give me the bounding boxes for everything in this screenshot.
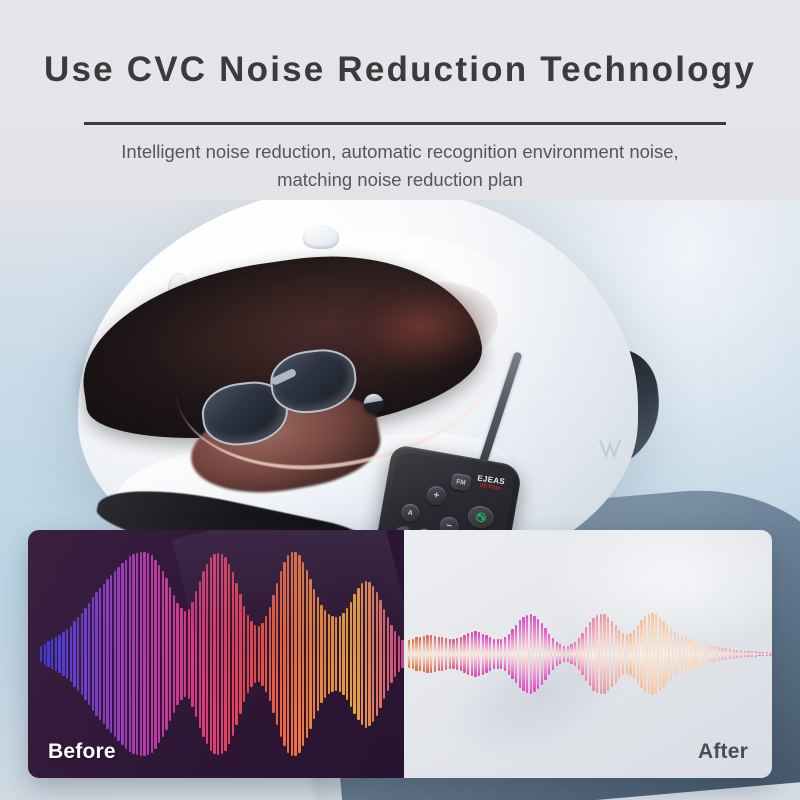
waveform-bar <box>718 647 720 661</box>
device-brand-logo: EJEAS V6 Plus <box>469 473 513 495</box>
waveform-bar <box>114 571 116 737</box>
waveform-bar <box>607 617 609 691</box>
waveform-bar <box>154 560 156 749</box>
waveform-bar <box>73 621 75 686</box>
waveform-bar <box>530 614 532 693</box>
waveform-bar <box>548 634 550 675</box>
waveform-bar <box>662 621 664 688</box>
waveform-bar <box>751 651 753 656</box>
after-panel: After <box>404 530 772 778</box>
waveform-bar <box>747 651 749 657</box>
waveform-bar <box>441 637 443 670</box>
page-subtitle: Intelligent noise reduction, automatic r… <box>100 138 700 194</box>
waveform-bar <box>55 637 57 671</box>
waveform-bar <box>552 638 554 670</box>
waveform-bar <box>725 648 727 660</box>
waveform-bar <box>125 560 127 749</box>
waveform-bar <box>408 640 410 668</box>
waveform-bar <box>740 650 742 658</box>
waveform-bar <box>585 627 587 681</box>
waveform-bar <box>423 636 425 672</box>
waveform-bar <box>589 622 591 686</box>
waveform-bar <box>110 575 112 733</box>
device-button-fm[interactable]: FM <box>450 473 471 492</box>
subtitle-line-2: matching noise reduction plan <box>100 166 700 194</box>
waveform-bar <box>92 597 94 710</box>
waveform-bar <box>637 625 639 683</box>
waveform-bar <box>699 643 701 666</box>
waveform-bar <box>615 625 617 683</box>
waveform-bar <box>434 636 436 672</box>
waveform-bar <box>500 639 502 670</box>
waveform-bar <box>626 634 628 674</box>
waveform-bar <box>460 637 462 672</box>
waveform-bar <box>659 617 661 691</box>
waveform-bar <box>537 619 539 689</box>
waveform-bar <box>176 603 178 706</box>
waveform-bar <box>685 637 687 670</box>
before-after-comparison-panel: Before After <box>28 530 772 778</box>
waveform-bar <box>508 634 510 675</box>
waveform-bar <box>733 650 735 659</box>
waveform-bar <box>692 640 694 668</box>
waveform-bar <box>729 649 731 659</box>
waveform-bar <box>438 637 440 672</box>
waveform-bar <box>44 644 46 665</box>
waveform-bar <box>445 638 447 670</box>
waveform-bar <box>511 629 513 679</box>
waveform-bar <box>714 646 716 661</box>
waveform-bar <box>655 614 657 693</box>
waveform-bar <box>688 639 690 670</box>
waveform-bar <box>581 633 583 675</box>
waveform-bar <box>603 614 605 693</box>
waveform-bar <box>600 614 602 695</box>
waveform-bar <box>88 603 90 706</box>
waveform-bar <box>670 628 672 679</box>
waveform-bar <box>478 632 480 677</box>
after-label: After <box>698 740 748 764</box>
waveform-bar <box>541 623 543 684</box>
device-button-a[interactable]: A <box>400 502 421 523</box>
waveform-bar <box>471 632 473 677</box>
phone-icon: ✆ <box>473 510 488 524</box>
waveform-bar <box>696 641 698 667</box>
waveform-bar <box>482 634 484 675</box>
waveform-bar <box>412 639 414 670</box>
waveform-bar <box>121 563 123 746</box>
waveform-bar <box>70 626 72 683</box>
subtitle-line-1: Intelligent noise reduction, automatic r… <box>100 138 700 166</box>
waveform-bar <box>651 613 653 695</box>
waveform-bar <box>769 653 771 656</box>
waveform-bar <box>556 642 558 666</box>
waveform-bar <box>165 578 167 729</box>
waveform-bar <box>755 651 757 656</box>
waveform-bar <box>188 609 190 699</box>
waveform-bar <box>493 639 495 670</box>
title-divider <box>84 122 726 125</box>
header-banner: Use CVC Noise Reduction Technology Intel… <box>0 0 800 200</box>
helmet-brand-mark-icon <box>598 438 622 460</box>
waveform-bar <box>489 637 491 670</box>
waveform-bar <box>415 637 417 670</box>
waveform-bar <box>721 648 723 661</box>
waveform-bar <box>136 553 138 755</box>
waveform-bar <box>77 617 79 691</box>
waveform-bar <box>596 615 598 693</box>
waveform-bar <box>162 571 164 737</box>
waveform-bar <box>143 552 145 756</box>
waveform-bar <box>140 552 142 756</box>
waveform-bar <box>129 556 131 751</box>
waveform-bar <box>180 608 182 700</box>
waveform-bar <box>103 584 105 725</box>
waveform-bar <box>644 616 646 692</box>
waveform-bar <box>677 634 679 674</box>
waveform-bar <box>449 639 451 670</box>
device-antenna <box>475 351 522 475</box>
waveform-bar <box>99 588 101 720</box>
waveform-bar <box>574 642 576 666</box>
waveform-bar <box>544 628 546 679</box>
waveform-bar <box>173 595 175 713</box>
waveform-bar <box>430 635 432 672</box>
waveform-bar <box>570 644 572 663</box>
waveform-bar <box>633 630 635 679</box>
waveform-bar <box>58 635 60 673</box>
waveform-bar <box>522 617 524 691</box>
waveform-bar <box>533 616 535 693</box>
waveform-bar <box>526 615 528 693</box>
before-label: Before <box>48 740 116 764</box>
waveform-bar <box>519 620 521 688</box>
waveform-bar <box>158 565 160 744</box>
waveform-bar <box>151 555 153 752</box>
waveform-bar <box>766 652 768 656</box>
waveform-bar <box>648 614 650 695</box>
waveform-bar <box>681 636 683 672</box>
waveform-bar <box>710 646 712 663</box>
waveform-bar <box>147 553 149 755</box>
waveform-bar <box>762 652 764 656</box>
waveform-bar <box>169 587 171 721</box>
waveform-bar <box>474 631 476 677</box>
waveform-bar <box>132 554 134 754</box>
waveform-bar <box>40 646 42 663</box>
waveform-bar <box>758 652 760 656</box>
waveform-bar <box>744 651 746 657</box>
waveform-bar <box>485 635 487 672</box>
waveform-bar <box>426 635 428 672</box>
device-button-fm-label: FM <box>456 478 466 487</box>
waveform-bar <box>95 592 97 716</box>
waveform-bar <box>515 625 517 684</box>
waveform-bar <box>703 644 705 665</box>
device-button-call[interactable]: ✆ <box>466 504 495 530</box>
waveform-bar <box>640 620 642 688</box>
waveform-bar <box>117 567 119 741</box>
helmet-vent-icon <box>303 225 339 249</box>
device-button-volume-up-label: + <box>432 490 440 502</box>
waveform-bar <box>504 637 506 672</box>
waveform-bar <box>456 638 458 670</box>
device-button-volume-up[interactable]: + <box>425 485 447 507</box>
waveform-bar <box>592 618 594 691</box>
device-button-a-label: A <box>407 509 413 517</box>
waveform-bar <box>563 646 565 663</box>
before-panel: Before <box>28 530 404 778</box>
waveform-bar <box>106 579 108 728</box>
waveform-bar <box>452 639 454 670</box>
waveform-bar <box>66 629 68 679</box>
waveform-bar <box>674 632 676 677</box>
waveform-bar <box>184 611 186 697</box>
waveform-bar <box>618 630 620 679</box>
waveform-bar <box>707 644 709 663</box>
waveform-bar <box>559 644 561 663</box>
waveform-bar <box>84 608 86 700</box>
waveform-bar <box>62 632 64 676</box>
waveform-bar <box>567 646 569 663</box>
page-title: Use CVC Noise Reduction Technology <box>0 50 800 90</box>
waveform-bar <box>629 633 631 675</box>
waveform-bar <box>81 613 83 695</box>
waveform-bar <box>578 638 580 670</box>
waveform-bar <box>467 633 469 675</box>
waveform-bar <box>736 650 738 658</box>
waveform-bar <box>611 621 613 688</box>
waveform-bar <box>666 625 668 684</box>
waveform-bar <box>419 637 421 672</box>
waveform-bar <box>47 641 49 666</box>
waveform-bar <box>51 639 53 668</box>
waveform-bar <box>622 633 624 675</box>
waveform-bar <box>463 635 465 673</box>
waveform-bar <box>497 639 499 668</box>
